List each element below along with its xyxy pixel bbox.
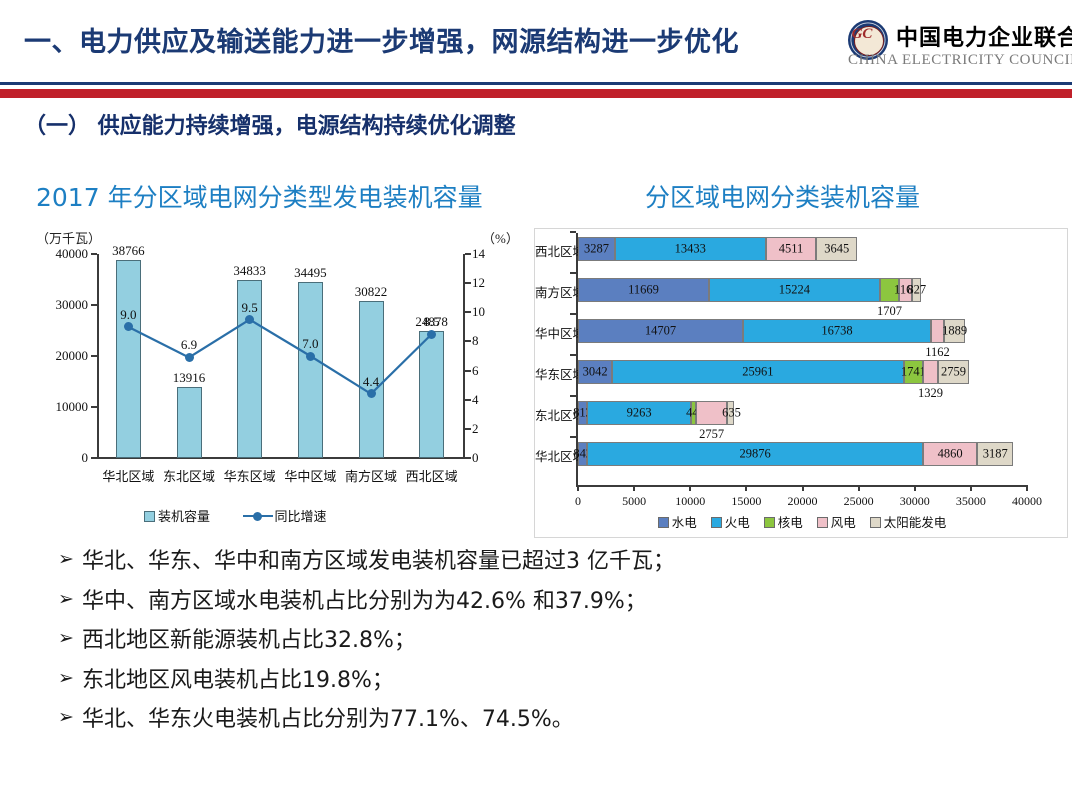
right-stacked-chart: 西北区域南方区域华中区域华东区域东北区域华北区域 328713433451136… [534,228,1068,538]
segment-value-label: 3287 [579,242,614,257]
y2-tick-label: 6 [472,363,502,379]
right-chart-y-tick-mark [570,354,576,356]
stacked-bar-segment: 3645 [816,237,857,261]
right-chart-x-tick-label: 15000 [723,494,769,509]
bar-capacity [298,282,323,458]
right-chart-x-tick-mark [914,485,916,491]
left-combo-chart: （万千瓦） （%） 010000200003000040000 02468101… [24,228,534,528]
y2-tick-mark [465,282,471,284]
y-tick-label: 40000 [32,246,88,262]
stacked-bar-segment: 1889 [944,319,965,343]
y2-tick-mark [465,370,471,372]
stacked-bar-segment: 842 [578,442,587,466]
right-chart-x-tick-mark [970,485,972,491]
segment-value-label: 13433 [616,242,765,257]
right-chart-legend: 水电火电核电风电太阳能发电 [535,512,1069,531]
segment-value-label: 4511 [767,242,816,257]
stacked-bar-segment: 4511 [766,237,817,261]
right-chart-x-tick-mark [802,485,804,491]
right-chart-y-tick-mark [570,436,576,438]
bullet-text: 西北地区新能源装机占比32.8%； [82,628,416,653]
legend-swatch-bar-icon [144,511,155,522]
bullet-item: ➢华北、华东、华中和南方区域发电装机容量已超过3 亿千瓦； [58,548,1038,576]
bar-value-label: 34833 [218,263,282,279]
left-chart-title: 2017 年分区域电网分类型发电装机容量 [36,178,483,214]
bullet-text: 华北、华东、华中和南方区域发电装机容量已超过3 亿千瓦； [82,549,675,574]
stacked-bar-segment: 3187 [977,442,1013,466]
line-data-point [185,353,194,362]
stacked-bar-segment: 25961 [612,360,903,384]
stacked-bar-segment: 11669 [578,278,709,302]
left-chart-y-axis-unit: （万千瓦） [36,228,101,247]
summary-bullet-list: ➢华北、华东、华中和南方区域发电装机容量已超过3 亿千瓦；➢华中、南方区域水电装… [58,548,1038,746]
line-value-label: 7.0 [288,336,332,352]
right-chart-category-label: 华东区域 [535,364,575,383]
segment-value-label: 11669 [579,283,708,298]
y2-tick-label: 14 [472,246,502,262]
right-chart-x-tick-label: 5000 [611,494,657,509]
legend-swatch-icon [658,517,669,528]
right-chart-title: 分区域电网分类装机容量 [645,178,920,214]
segment-value-label: 4860 [924,447,977,462]
right-chart-x-tick-label: 0 [555,494,601,509]
bullet-text: 东北地区风电装机占比19.8%； [82,668,394,693]
segment-value-label: 827 [907,283,926,298]
stacked-bar-segment: 13433 [615,237,766,261]
bullet-arrow-icon: ➢ [58,706,74,730]
header-divider-navy [0,82,1072,85]
legend-label-growth: 同比增速 [275,509,327,524]
segment-value-label: 25961 [613,365,902,380]
y2-tick-label: 2 [472,421,502,437]
y-tick-label: 20000 [32,348,88,364]
legend-label: 太阳能发电 [884,516,947,530]
y2-tick-mark [465,457,471,459]
right-chart-legend-item: 水电 [658,512,697,531]
right-chart-x-tick-label: 20000 [780,494,826,509]
legend-swatch-icon [870,517,881,528]
left-chart-legend: 装机容量 同比增速 [144,506,327,525]
right-chart-category-label: 华中区域 [535,323,575,342]
right-chart-x-tick-mark [858,485,860,491]
y2-tick-label: 10 [472,304,502,320]
stacked-bar-segment: 3287 [578,237,615,261]
bar-value-label: 34495 [278,265,342,281]
legend-item-capacity: 装机容量 [144,509,213,524]
stacked-bar-segment: 16738 [743,319,931,343]
segment-value-label-outside: 1162 [912,345,962,360]
line-value-label: 8.5 [410,314,454,330]
segment-value-label: 1889 [939,324,970,339]
right-chart-x-tick-label: 25000 [836,494,882,509]
stacked-bar-segment: 1741 [904,360,924,384]
line-value-label: 9.5 [228,300,272,316]
right-chart-x-tick-mark [689,485,691,491]
y-tick-mark [91,406,97,408]
segment-value-label-outside: 1329 [906,386,956,401]
y2-tick-label: 0 [472,450,502,466]
right-chart-x-tick-mark [745,485,747,491]
right-chart-legend-item: 核电 [764,512,803,531]
right-chart-y-tick-mark [570,395,576,397]
segment-value-label: 3645 [817,242,856,257]
right-chart-y-tick-mark [570,231,576,233]
legend-label: 火电 [725,516,750,530]
line-data-point [306,352,315,361]
bar-capacity [116,260,141,458]
y2-tick-label: 12 [472,275,502,291]
y-tick-mark [91,304,97,306]
header-accent-bar-red [0,89,1072,98]
bullet-arrow-icon: ➢ [58,588,74,612]
stacked-bar-segment: 29876 [587,442,922,466]
segment-value-label: 3042 [579,365,611,380]
legend-item-growth: 同比增速 [243,509,327,524]
logo-name-cn: 中国电力企业联合会 [896,20,1072,52]
legend-label: 风电 [831,516,856,530]
y2-tick-label: 4 [472,392,502,408]
right-chart-x-tick-mark [1026,485,1028,491]
bullet-item: ➢东北地区风电装机占比19.8%； [58,667,1038,695]
section-subtitle: （一） 供应能力持续增强，电源结构持续优化调整 [24,108,516,140]
y2-tick-mark [465,311,471,313]
bar-capacity [177,387,202,458]
y-tick-label: 10000 [32,399,88,415]
stacked-bar-segment: 3042 [578,360,612,384]
right-chart-category-label: 西北区域 [535,241,575,260]
segment-value-label-outside: 1707 [864,304,914,319]
legend-swatch-line-icon [243,511,273,522]
right-chart-category-label: 东北区域 [535,405,575,424]
line-value-label: 4.4 [349,374,393,390]
bullet-arrow-icon: ➢ [58,667,74,691]
segment-value-label: 14707 [579,324,742,339]
right-chart-x-tick-label: 35000 [948,494,994,509]
legend-swatch-icon [711,517,722,528]
seal-monogram: GC [848,20,876,48]
y-tick-mark [91,355,97,357]
right-chart-x-tick-mark [577,485,579,491]
right-chart-category-label: 华北区域 [535,446,575,465]
right-chart-y-tick-mark [570,272,576,274]
segment-value-label: 9263 [588,406,690,421]
bullet-item: ➢西北地区新能源装机占比32.8%； [58,627,1038,655]
legend-swatch-icon [764,517,775,528]
segment-value-label: 3187 [978,447,1012,462]
x-category-label: 西北区域 [396,466,468,485]
bar-value-label: 13916 [157,370,221,386]
y-tick-label: 30000 [32,297,88,313]
right-chart-x-tick-label: 40000 [1004,494,1050,509]
left-chart-y-axis [97,254,99,458]
organization-logo: GC 中国电力企业联合会 CHINA ELECTRICITY COUNCIL [848,18,1064,80]
bar-value-label: 38766 [96,243,160,259]
y2-tick-mark [465,253,471,255]
stacked-bar-segment: 9263 [587,401,691,425]
segment-value-label: 2759 [933,365,974,380]
line-data-point [367,389,376,398]
stacked-bar-segment: 14707 [578,319,743,343]
line-value-label: 6.9 [167,337,211,353]
bullet-item: ➢华中、南方区域水电装机占比分别为为42.6% 和37.9%； [58,588,1038,616]
legend-label: 水电 [672,516,697,530]
right-chart-x-tick-label: 30000 [892,494,938,509]
bullet-item: ➢华北、华东火电装机占比分别为77.1%、74.5%。 [58,706,1038,734]
legend-label-capacity: 装机容量 [158,509,210,524]
stacked-bar-segment: 827 [912,278,921,302]
slide-header: 一、电力供应及输送能力进一步增强，网源结构进一步优化 GC 中国电力企业联合会 … [0,0,1072,92]
bar-value-label: 30822 [339,284,403,300]
bullet-text: 华北、华东火电装机占比分别为77.1%、74.5%。 [82,707,574,732]
right-chart-x-tick-mark [633,485,635,491]
legend-swatch-icon [817,517,828,528]
y-tick-label: 0 [32,450,88,466]
bullet-text: 华中、南方区域水电装机占比分别为为42.6% 和37.9%； [82,589,647,614]
bullet-arrow-icon: ➢ [58,548,74,572]
bar-capacity [419,331,444,458]
stacked-bar-segment: 4860 [923,442,978,466]
left-chart-y2-axis-unit: （%） [482,228,519,247]
segment-value-label: 635 [722,406,739,421]
right-chart-legend-item: 火电 [711,512,750,531]
y-tick-mark [91,457,97,459]
right-chart-category-label: 南方区域 [535,282,575,301]
y2-tick-mark [465,340,471,342]
y2-tick-label: 8 [472,333,502,349]
right-chart-legend-item: 太阳能发电 [870,512,947,531]
bullet-arrow-icon: ➢ [58,627,74,651]
legend-label: 核电 [778,516,803,530]
stacked-bar-segment: 812 [578,401,587,425]
left-chart-x-axis [97,457,465,459]
y2-tick-mark [465,399,471,401]
logo-name-en: CHINA ELECTRICITY COUNCIL [848,52,1072,69]
stacked-bar-segment: 15224 [709,278,880,302]
line-value-label: 9.0 [106,307,150,323]
segment-value-label-outside: 2757 [687,427,737,442]
stacked-bar-segment: 2759 [938,360,969,384]
line-data-point [427,330,436,339]
right-chart-y-tick-mark [570,313,576,315]
right-chart-legend-item: 风电 [817,512,856,531]
y2-tick-mark [465,428,471,430]
page-title: 一、电力供应及输送能力进一步增强，网源结构进一步优化 [24,20,739,59]
segment-value-label: 16738 [744,324,930,339]
stacked-bar-segment: 635 [727,401,734,425]
segment-value-label: 29876 [588,447,921,462]
right-chart-x-tick-label: 10000 [667,494,713,509]
slide-root: 一、电力供应及输送能力进一步增强，网源结构进一步优化 GC 中国电力企业联合会 … [0,0,1072,803]
segment-value-label: 15224 [710,283,879,298]
